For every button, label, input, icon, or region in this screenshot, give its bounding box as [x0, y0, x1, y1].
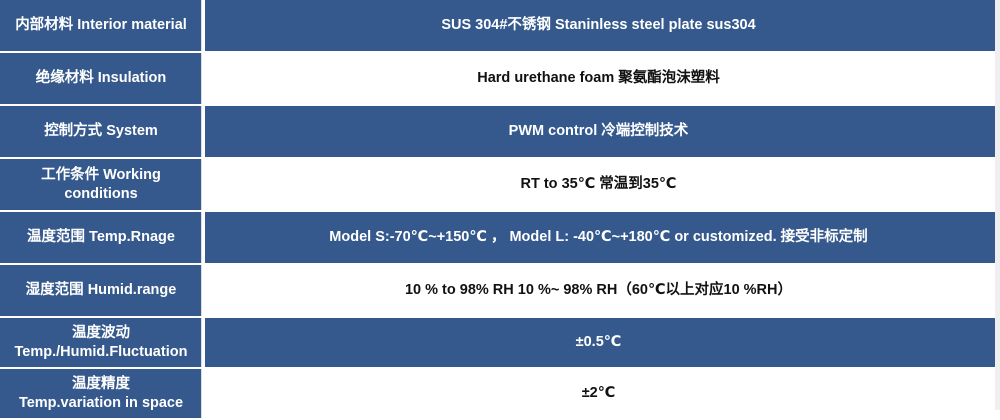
row-label-line-2: Temp.variation in space — [6, 394, 196, 412]
row-label-line-1: 工作条件 Working conditions — [6, 166, 196, 202]
specification-table: 内部材料 Interior material SUS 304#不锈钢 Stani… — [0, 0, 1000, 420]
row-value-humidity-range: 10 % to 98% RH 10 %~ 98% RH（60℃以上对应10 %R… — [205, 265, 1000, 318]
row-value-temp-variation-in-space: ±2℃ — [205, 369, 1000, 420]
row-label-temp-range: 温度范围 Temp.Rnage — [0, 212, 205, 265]
row-label-line-1: 温度精度 — [6, 375, 196, 393]
table-row: 湿度范围 Humid.range 10 % to 98% RH 10 %~ 98… — [0, 265, 1000, 318]
row-value-insulation: Hard urethane foam 聚氨酯泡沫塑料 — [205, 53, 1000, 106]
row-label-system: 控制方式 System — [0, 106, 205, 159]
row-value-interior-material: SUS 304#不锈钢 Staninless steel plate sus30… — [205, 0, 1000, 53]
row-label-temp-humid-fluctuation: 温度波动 Temp./Humid.Fluctuation — [0, 318, 205, 369]
row-label-line-1: 内部材料 Interior material — [6, 16, 196, 34]
table-row: 内部材料 Interior material SUS 304#不锈钢 Stani… — [0, 0, 1000, 53]
row-label-temp-variation-in-space: 温度精度 Temp.variation in space — [0, 369, 205, 420]
row-value-system: PWM control 冷端控制技术 — [205, 106, 1000, 159]
table-row: 温度波动 Temp./Humid.Fluctuation ±0.5℃ — [0, 318, 1000, 369]
row-label-humidity-range: 湿度范围 Humid.range — [0, 265, 205, 318]
table-row: 温度精度 Temp.variation in space ±2℃ — [0, 369, 1000, 420]
specification-table-body: 内部材料 Interior material SUS 304#不锈钢 Stani… — [0, 0, 1000, 420]
row-value-temp-range: Model S:-70℃~+150℃ ， Model L: -40℃~+180℃… — [205, 212, 1000, 265]
table-row: 工作条件 Working conditions RT to 35℃ 常温到35℃ — [0, 159, 1000, 212]
row-label-line-1: 控制方式 System — [6, 122, 196, 140]
row-label-line-1: 温度波动 — [6, 324, 196, 342]
row-label-line-2: Temp./Humid.Fluctuation — [6, 343, 196, 361]
row-label-interior-material: 内部材料 Interior material — [0, 0, 205, 53]
row-value-working-conditions: RT to 35℃ 常温到35℃ — [205, 159, 1000, 212]
row-value-temp-humid-fluctuation: ±0.5℃ — [205, 318, 1000, 369]
row-label-line-1: 温度范围 Temp.Rnage — [6, 228, 196, 246]
row-label-line-1: 湿度范围 Humid.range — [6, 281, 196, 299]
row-label-line-1: 绝缘材料 Insulation — [6, 69, 196, 87]
table-row: 温度范围 Temp.Rnage Model S:-70℃~+150℃ ， Mod… — [0, 212, 1000, 265]
right-edge-rail — [995, 0, 1000, 410]
table-row: 绝缘材料 Insulation Hard urethane foam 聚氨酯泡沫… — [0, 53, 1000, 106]
row-label-insulation: 绝缘材料 Insulation — [0, 53, 205, 106]
table-row: 控制方式 System PWM control 冷端控制技术 — [0, 106, 1000, 159]
row-label-working-conditions: 工作条件 Working conditions — [0, 159, 205, 212]
